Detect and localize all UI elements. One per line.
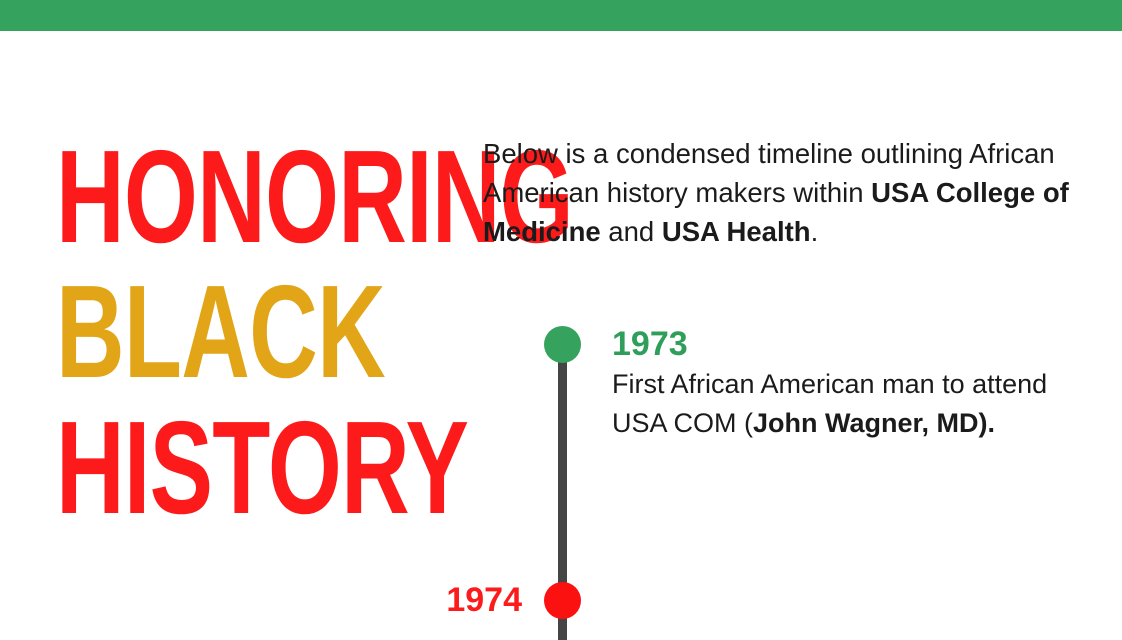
timeline-marker-1974 <box>544 582 581 619</box>
timeline-description-1973: First African American man to attend USA… <box>612 365 1052 442</box>
page-title: HONORING BLACK HISTORY <box>56 136 476 528</box>
timeline-desc-bold-1973: John Wagner, MD). <box>753 408 995 438</box>
intro-text-part-2: and <box>601 216 662 247</box>
intro-paragraph: Below is a condensed timeline outlining … <box>483 134 1103 251</box>
headline-line-honoring: HONORING <box>56 136 358 257</box>
timeline-desc-plain-1973: First African American man to attend USA… <box>612 369 1047 437</box>
timeline-entry-1974: 1974 <box>300 582 522 621</box>
timeline-year-1974: 1974 <box>300 582 522 619</box>
intro-text-part-3: . <box>811 216 819 247</box>
headline-line-black: BLACK <box>56 271 358 392</box>
intro-bold-usa-health: USA Health <box>662 216 811 247</box>
headline-line-history: HISTORY <box>56 407 358 528</box>
timeline-entry-1973: 1973 First African American man to atten… <box>612 326 1052 442</box>
timeline-marker-1973 <box>544 326 581 363</box>
top-accent-bar <box>0 0 1122 31</box>
timeline-year-1973: 1973 <box>612 326 1052 363</box>
timeline-rail <box>558 340 567 640</box>
